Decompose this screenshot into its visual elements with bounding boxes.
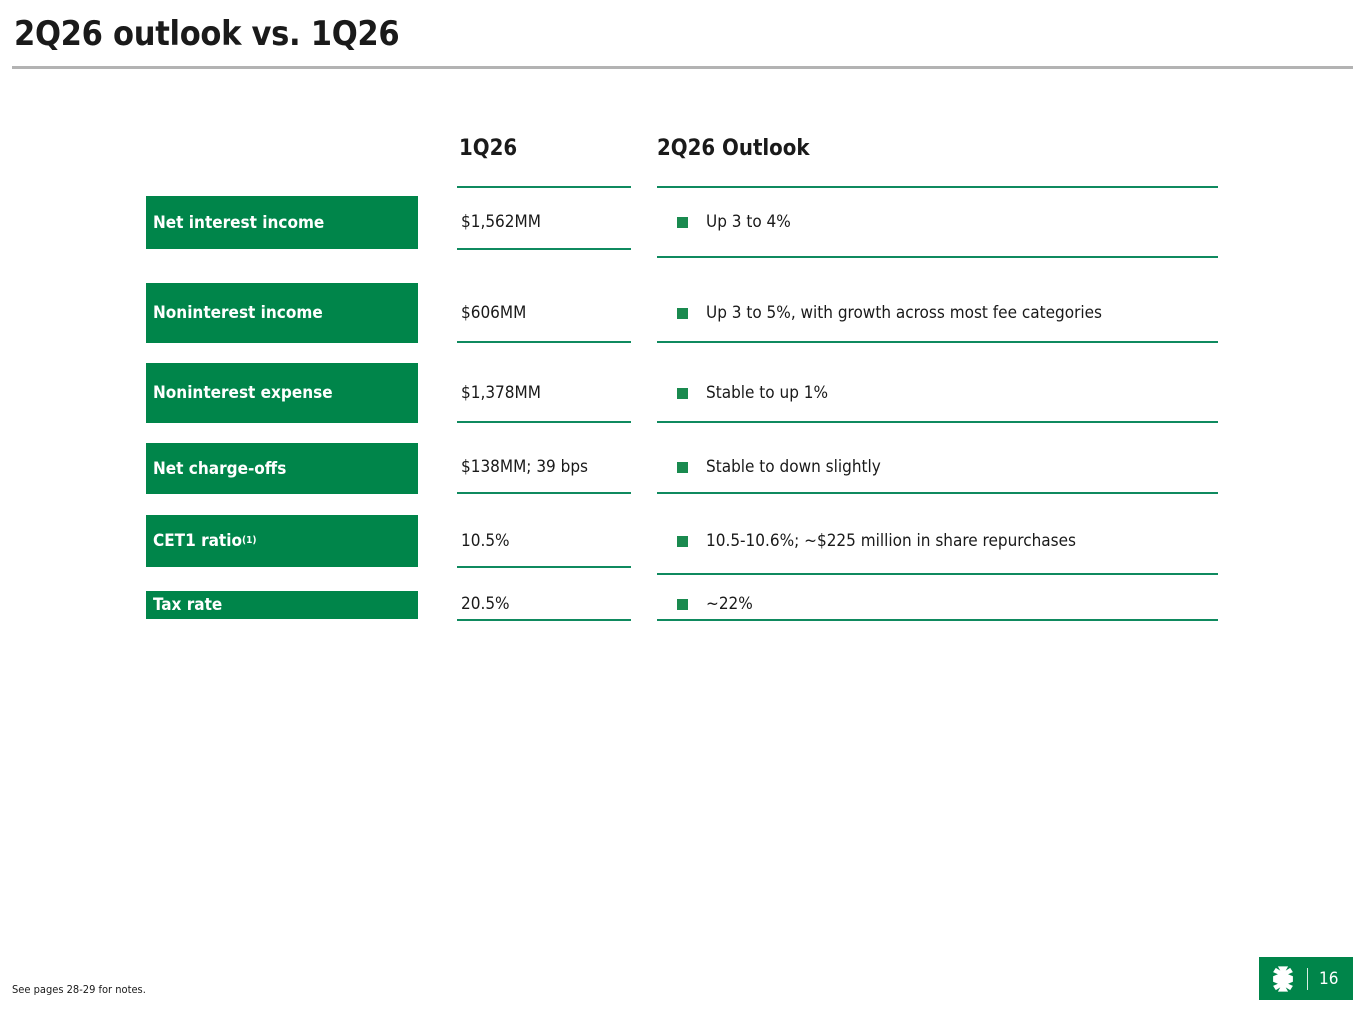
page-number: 16 [1319,969,1338,989]
cell-2q26-text: Stable to down slightly [706,457,881,477]
bullet-square-icon [677,462,688,473]
badge-divider [1307,968,1308,990]
cell-1q26-noninterest-income: $606MM [461,303,526,323]
bullet-square-icon [677,217,688,228]
bullet-square-icon [677,599,688,610]
cell-1q26-noninterest-expense: $1,378MM [461,383,541,403]
row-label-net-interest-income: Net interest income [146,196,418,249]
row-rule-2q26 [657,341,1218,343]
footer-note: See pages 28-29 for notes. [12,983,146,996]
cell-2q26-cet1-ratio: 10.5-10.6%; ~$225 million in share repur… [677,531,1076,551]
cell-2q26-noninterest-expense: Stable to up 1% [677,383,828,403]
citizens-star-logo-icon [1268,964,1298,994]
row-label-text: Noninterest income [153,303,323,323]
row-label-text: Noninterest expense [153,383,333,403]
bullet-square-icon [677,308,688,319]
header-rule-2q26 [657,186,1218,188]
header-rule-1q26 [457,186,631,188]
cell-2q26-text: Up 3 to 4% [706,212,791,232]
cell-2q26-text: ~22% [706,594,753,614]
cell-2q26-text: Up 3 to 5%, with growth across most fee … [706,303,1102,323]
row-rule-1q26 [457,341,631,343]
row-rule-1q26 [457,421,631,423]
cell-1q26-net-charge-offs: $138MM; 39 bps [461,457,588,477]
row-label-noninterest-expense: Noninterest expense [146,363,418,423]
cell-2q26-net-interest-income: Up 3 to 4% [677,212,791,232]
row-rule-2q26 [657,421,1218,423]
page-badge: 16 [1259,957,1353,1000]
row-label-noninterest-income: Noninterest income [146,283,418,343]
row-label-text: CET1 ratio [153,531,242,551]
cell-1q26-cet1-ratio: 10.5% [461,531,510,551]
cell-2q26-text: Stable to up 1% [706,383,828,403]
row-label-text: Tax rate [153,595,222,615]
row-rule-2q26 [657,619,1218,621]
row-rule-1q26 [457,492,631,494]
cell-2q26-text: 10.5-10.6%; ~$225 million in share repur… [706,531,1076,551]
bullet-square-icon [677,388,688,399]
row-label-cet1-ratio: CET1 ratio(1) [146,515,418,567]
cell-2q26-net-charge-offs: Stable to down slightly [677,457,881,477]
cell-1q26-net-interest-income: $1,562MM [461,212,541,232]
column-header-2q26: 2Q26 Outlook [657,136,810,161]
row-rule-1q26 [457,248,631,250]
row-rule-1q26 [457,619,631,621]
cell-1q26-tax-rate: 20.5% [461,594,510,614]
row-rule-2q26 [657,573,1218,575]
row-label-net-charge-offs: Net charge-offs [146,443,418,494]
column-header-1q26: 1Q26 [459,136,517,161]
cell-2q26-tax-rate: ~22% [677,594,753,614]
row-rule-1q26 [457,566,631,568]
row-label-text: Net interest income [153,213,324,233]
outlook-comparison-table: 1Q26 2Q26 Outlook Net interest income $1… [0,0,1365,700]
row-rule-2q26 [657,256,1218,258]
cell-2q26-noninterest-income: Up 3 to 5%, with growth across most fee … [677,303,1102,323]
row-rule-2q26 [657,492,1218,494]
row-label-tax-rate: Tax rate [146,591,418,619]
row-label-text: Net charge-offs [153,459,286,479]
bullet-square-icon [677,536,688,547]
